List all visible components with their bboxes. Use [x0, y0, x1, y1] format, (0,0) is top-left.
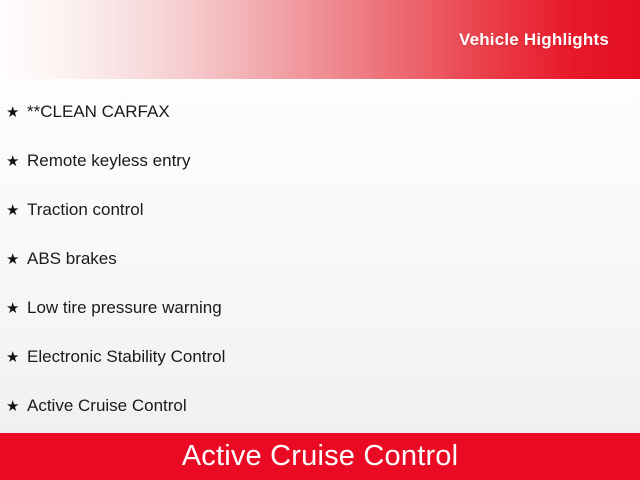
star-icon: ★	[6, 154, 27, 169]
vehicle-highlights-panel: Vehicle Highlights ★ **CLEAN CARFAX ★ Re…	[0, 0, 640, 480]
star-icon: ★	[6, 301, 27, 316]
list-item: ★ Remote keyless entry	[0, 149, 640, 173]
list-item: ★ Active Cruise Control	[0, 394, 640, 418]
list-item: ★ Low tire pressure warning	[0, 296, 640, 320]
list-item: ★ Electronic Stability Control	[0, 345, 640, 369]
feature-label: Low tire pressure warning	[27, 298, 222, 318]
feature-list: ★ **CLEAN CARFAX ★ Remote keyless entry …	[0, 79, 640, 433]
feature-label: Electronic Stability Control	[27, 347, 225, 367]
list-item: ★ Traction control	[0, 198, 640, 222]
feature-label: Traction control	[27, 200, 144, 220]
list-item: ★ **CLEAN CARFAX	[0, 100, 640, 124]
star-icon: ★	[6, 252, 27, 267]
star-icon: ★	[6, 105, 27, 120]
footer-banner-text: Active Cruise Control	[182, 442, 459, 471]
list-item: ★ ABS brakes	[0, 247, 640, 271]
footer-banner: Active Cruise Control	[0, 433, 640, 480]
feature-label: Active Cruise Control	[27, 396, 187, 416]
page-title: Vehicle Highlights	[459, 30, 609, 50]
feature-label: ABS brakes	[27, 249, 117, 269]
feature-label: **CLEAN CARFAX	[27, 102, 170, 122]
star-icon: ★	[6, 350, 27, 365]
header-banner: Vehicle Highlights	[0, 0, 640, 79]
feature-label: Remote keyless entry	[27, 151, 190, 171]
star-icon: ★	[6, 399, 27, 414]
star-icon: ★	[6, 203, 27, 218]
